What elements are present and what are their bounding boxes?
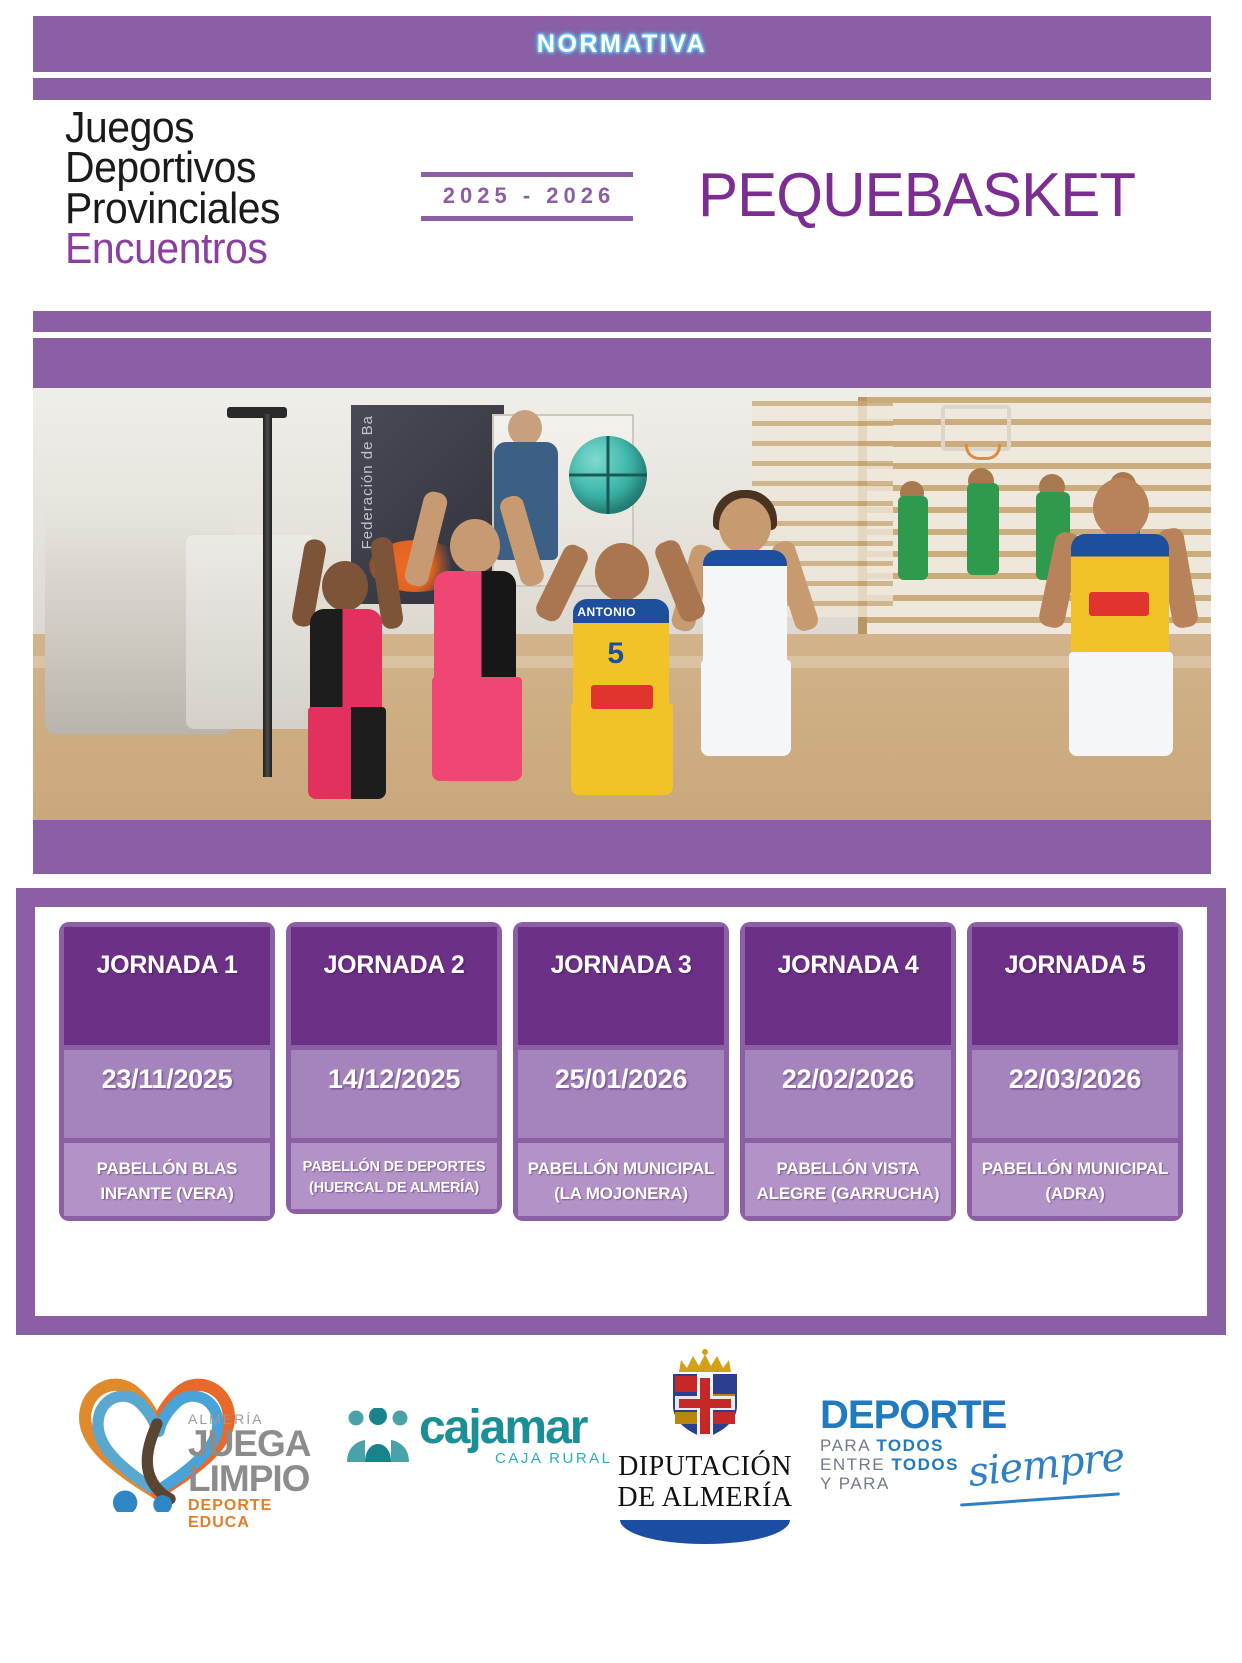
player-black-red <box>292 535 412 820</box>
deporte-tagline-2a: ENTRE <box>820 1455 885 1474</box>
diputacion-line-1: DIPUTACIÓN <box>610 1451 800 1483</box>
jornada-venue-block: PABELLÓN VISTA ALEGRE (GARRUCHA) <box>745 1143 951 1216</box>
player-yellow-blue-right <box>1047 474 1187 820</box>
jl-line-deporte: DEPORTE <box>188 1498 310 1515</box>
jornada-venue: PABELLÓN MUNICIPAL (LA MOJONERA) <box>526 1157 716 1206</box>
logo-line-deportivos: Deportivos <box>65 148 280 188</box>
jornada-date-block: 23/11/2025 <box>64 1050 270 1138</box>
sponsor-patch <box>1089 592 1149 616</box>
logo-diputacion-almeria: DIPUTACIÓN DE ALMERÍA <box>610 1348 800 1548</box>
jornadas-panel: JORNADA 1 23/11/2025 PABELLÓN BLAS INFAN… <box>16 888 1226 1335</box>
jornada-venue-block: PABELLÓN MUNICIPAL (LA MOJONERA) <box>518 1143 724 1216</box>
jornada-card-4[interactable]: JORNADA 4 22/02/2026 PABELLÓN VISTA ALEG… <box>740 922 956 1221</box>
jornada-title-block: JORNADA 5 <box>972 927 1178 1045</box>
basketball-hoop-icon <box>941 405 1011 451</box>
player-head <box>595 543 649 601</box>
jornada-title-block: JORNADA 2 <box>291 927 497 1045</box>
jl-line-educa: EDUCA <box>188 1515 310 1532</box>
program-logo: Juegos Deportivos Provinciales Encuentro… <box>65 108 296 270</box>
jornada-card-1[interactable]: JORNADA 1 23/11/2025 PABELLÓN BLAS INFAN… <box>59 922 275 1221</box>
logo-cajamar: cajamar CAJA RURAL <box>345 1398 595 1474</box>
jornada-date-block: 14/12/2025 <box>291 1050 497 1138</box>
jornada-venue: PABELLÓN MUNICIPAL (ADRA) <box>980 1157 1170 1206</box>
player-shorts <box>1069 652 1173 756</box>
jornada-date: 23/11/2025 <box>102 1064 233 1095</box>
title-underbar <box>33 311 1211 332</box>
deporte-tagline-1a: PARA <box>820 1436 870 1455</box>
season-rule-bottom <box>421 216 633 221</box>
cajamar-wordmark: cajamar <box>419 1400 586 1455</box>
jornada-title-block: JORNADA 3 <box>518 927 724 1045</box>
jornada-title-block: JORNADA 4 <box>745 927 951 1045</box>
jornada-card-2[interactable]: JORNADA 2 14/12/2025 PABELLÓN DE DEPORTE… <box>286 922 502 1214</box>
player-girl-white-blue <box>681 492 806 820</box>
deporte-script-underline <box>960 1493 1120 1507</box>
jersey-name: ANTONIO <box>577 605 636 619</box>
sponsor-patch <box>591 685 653 709</box>
jornadas-grid: JORNADA 1 23/11/2025 PABELLÓN BLAS INFAN… <box>35 907 1207 1316</box>
jornada-venue: PABELLÓN VISTA ALEGRE (GARRUCHA) <box>753 1157 943 1206</box>
jornada-date: 25/01/2026 <box>555 1064 687 1095</box>
normativa-banner: NORMATIVA <box>33 16 1211 72</box>
jornada-date: 22/02/2026 <box>782 1064 914 1095</box>
jornada-venue: PABELLÓN DE DEPORTES (HUERCAL DE ALMERÍA… <box>299 1157 489 1199</box>
logo-line-provinciales: Provinciales <box>65 189 280 229</box>
jornada-date-block: 25/01/2026 <box>518 1050 724 1138</box>
player-shorts <box>308 707 386 799</box>
player-jersey <box>434 571 516 683</box>
diputacion-line-2: DE ALMERÍA <box>610 1483 800 1512</box>
player-pink <box>410 505 540 820</box>
player-yellow-blue-number5: ANTONIO 5 <box>551 509 691 820</box>
deporte-taglines: PARA TODOS ENTRE TODOS Y PARA siempre <box>820 1436 1120 1493</box>
player-head <box>719 498 771 554</box>
jornada-card-3[interactable]: JORNADA 3 25/01/2026 PABELLÓN MUNICIPAL … <box>513 922 729 1221</box>
jornada-venue-block: PABELLÓN DE DEPORTES (HUERCAL DE ALMERÍA… <box>291 1143 497 1209</box>
logo-deporte-siempre: DEPORTE PARA TODOS ENTRE TODOS Y PARA si… <box>820 1396 1120 1506</box>
jersey-number: 5 <box>607 637 624 671</box>
season-badge: 2025 - 2026 <box>421 172 633 221</box>
title-zone: Juegos Deportivos Provinciales Encuentro… <box>33 100 1211 305</box>
jornada-title: JORNADA 2 <box>324 951 465 980</box>
player-jersey <box>310 609 382 713</box>
player-shorts <box>701 660 791 756</box>
player-shorts <box>571 703 673 795</box>
hoop-pole <box>263 414 272 777</box>
jl-line-limpio: LIMPIO <box>188 1461 310 1496</box>
jornada-title: JORNADA 4 <box>778 951 919 980</box>
player-shorts <box>432 677 522 781</box>
jornada-date: 22/03/2026 <box>1009 1064 1141 1095</box>
jornada-venue: PABELLÓN BLAS INFANTE (VERA) <box>72 1157 262 1206</box>
jornada-card-5[interactable]: JORNADA 5 22/03/2026 PABELLÓN MUNICIPAL … <box>967 922 1183 1221</box>
deporte-tagline-3a: Y PARA <box>820 1474 890 1493</box>
basketball-photo: Federación de Ba <box>33 388 1211 820</box>
jornada-title: JORNADA 5 <box>1005 951 1146 980</box>
photo-frame: Federación de Ba <box>33 338 1211 874</box>
jornada-venue-block: PABELLÓN MUNICIPAL (ADRA) <box>972 1143 1178 1216</box>
normativa-underbar <box>33 78 1211 100</box>
logo-line-encuentros: Encuentros <box>65 229 280 269</box>
jornada-title-block: JORNADA 1 <box>64 927 270 1045</box>
cajamar-subtitle: CAJA RURAL <box>495 1450 613 1467</box>
jornada-title: JORNADA 3 <box>551 951 692 980</box>
logo-line-juegos: Juegos <box>65 108 280 148</box>
sponsor-footer: ALMERÍA JUEGA LIMPIO DEPORTE EDUCA cajam… <box>0 1340 1242 1663</box>
federation-banner-text: Federación de Ba <box>359 415 376 549</box>
season-years: 2025 - 2026 <box>421 177 633 216</box>
referee-head <box>508 410 542 446</box>
normativa-label: NORMATIVA <box>537 30 707 59</box>
deporte-tagline-2b: TODOS <box>891 1455 959 1474</box>
logo-juega-limpio: ALMERÍA JUEGA LIMPIO DEPORTE EDUCA <box>58 1354 318 1529</box>
jornada-date: 14/12/2025 <box>328 1064 460 1095</box>
jornada-date-block: 22/03/2026 <box>972 1050 1178 1138</box>
hoop-pole-top <box>227 407 287 418</box>
background-player <box>898 496 928 580</box>
player-jersey-stripe <box>703 550 787 566</box>
jl-line-juega: JUEGA <box>188 1426 310 1461</box>
background-player <box>967 483 999 575</box>
jornada-date-block: 22/02/2026 <box>745 1050 951 1138</box>
diputacion-wave <box>620 1520 790 1544</box>
player-head <box>1093 478 1149 538</box>
jornada-venue-block: PABELLÓN BLAS INFANTE (VERA) <box>64 1143 270 1216</box>
people-icon <box>345 1408 411 1464</box>
jornada-title: JORNADA 1 <box>97 951 238 980</box>
deporte-wordmark: DEPORTE <box>820 1396 1120 1434</box>
coat-of-arms-icon <box>667 1348 743 1440</box>
poster-page: NORMATIVA Juegos Deportivos Provinciales… <box>0 0 1242 1663</box>
page-title: PEQUEBASKET <box>698 160 1135 231</box>
juega-limpio-wordmark: ALMERÍA JUEGA LIMPIO DEPORTE EDUCA <box>188 1412 310 1532</box>
player-head <box>322 561 368 611</box>
basketball <box>569 436 647 514</box>
deporte-tagline-1b: TODOS <box>876 1436 944 1455</box>
player-jersey <box>703 550 787 666</box>
player-head <box>450 519 500 573</box>
